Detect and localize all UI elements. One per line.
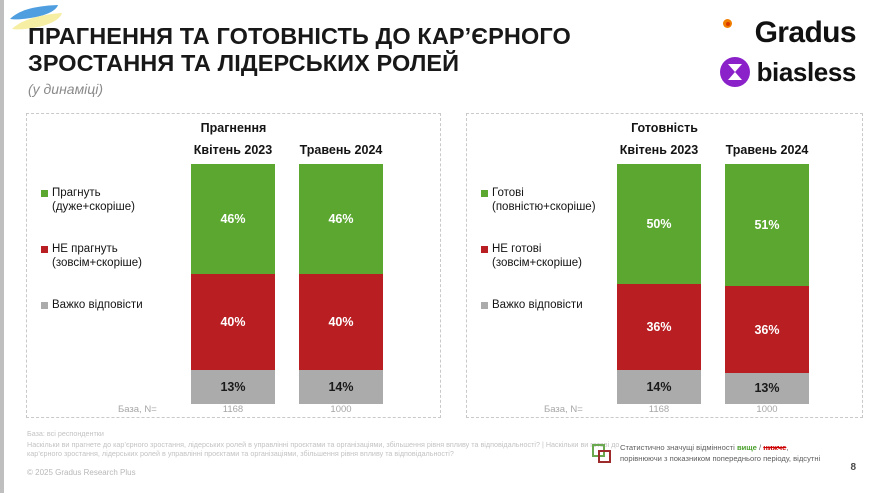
page-number: 8: [850, 462, 856, 473]
bar-segment-label: 36%: [646, 320, 671, 334]
legend-label: Важко відповісти: [52, 298, 143, 312]
bar-segment-green: 51%: [725, 164, 809, 286]
legend-swatch-red-icon: [481, 246, 488, 253]
legend-label: Важко відповісти: [492, 298, 583, 312]
panel-title: Прагнення: [27, 121, 440, 135]
legend-label: НЕ готові (зовсім+скоріше): [492, 242, 582, 270]
footnote: База: всі респондентки Наскільки ви праг…: [27, 429, 627, 459]
footnote-base: База: всі респондентки: [27, 429, 104, 438]
brand-logo: Gradus biasless: [706, 16, 856, 90]
legend-item: Важко відповісти: [41, 298, 191, 312]
base-value: 1000: [299, 404, 383, 415]
legend-label: Прагнуть (дуже+скоріше): [52, 186, 135, 214]
legend-label-sub: (дуже+скоріше): [52, 200, 135, 214]
bar-segment-label: 14%: [646, 380, 671, 394]
bar-column: Квітень 2023 46% 40% 13%: [191, 141, 275, 404]
legend-label-main: Готові: [492, 187, 524, 199]
bar-segment-red: 40%: [191, 274, 275, 370]
bar-segment-label: 13%: [220, 380, 245, 394]
bar-segment-gray: 13%: [191, 370, 275, 404]
legend-label-main: Важко відповісти: [492, 299, 583, 311]
legend-swatch-gray-icon: [481, 302, 488, 309]
legend-label-main: НЕ готові: [492, 243, 541, 255]
stacked-bar: 51% 36% 13%: [725, 164, 809, 404]
bar-segment-label: 40%: [220, 315, 245, 329]
bar-segment-green: 46%: [299, 164, 383, 274]
bar-segment-red: 40%: [299, 274, 383, 370]
bar-column: Травень 2024 51% 36% 13%: [725, 141, 809, 404]
column-header: Травень 2024: [725, 141, 809, 160]
base-row: База, N= 1168 1000: [27, 404, 440, 418]
chart-legend: Прагнуть (дуже+скоріше) НЕ прагнуть (зов…: [41, 186, 191, 312]
logo-gradus-text: Gradus: [755, 16, 856, 50]
significance-up-word: вище: [737, 443, 757, 452]
base-label: База, N=: [118, 404, 157, 415]
column-header: Квітень 2023: [191, 141, 275, 160]
stacked-bar: 46% 40% 14%: [299, 164, 383, 404]
legend-item: НЕ готові (зовсім+скоріше): [481, 242, 631, 270]
bar-segment-gray: 13%: [725, 373, 809, 404]
base-value: 1168: [191, 404, 275, 415]
bar-segment-green: 50%: [617, 164, 701, 284]
logo-biasless-row: biasless: [720, 56, 856, 88]
page-title: ПРАГНЕННЯ ТА ГОТОВНІСТЬ ДО КАР’ЄРНОГО ЗР…: [28, 23, 688, 97]
orange-dot-icon: [723, 19, 732, 28]
bar-segment-label: 46%: [328, 212, 353, 226]
legend-item: Готові (повністю+скоріше): [481, 186, 631, 214]
bar-segment-label: 36%: [754, 323, 779, 337]
bar-segment-label: 13%: [754, 381, 779, 395]
panel-title: Готовність: [467, 121, 862, 135]
bar-segment-label: 46%: [220, 212, 245, 226]
legend-label-sub: (зовсім+скоріше): [492, 256, 582, 270]
significance-down-word: нижче: [763, 443, 786, 452]
legend-label-sub: (повністю+скоріше): [492, 200, 596, 214]
legend-label: Готові (повністю+скоріше): [492, 186, 596, 214]
significance-note-text: Статистично значущі відмінності вище / н…: [620, 443, 822, 464]
legend-swatch-red-icon: [41, 246, 48, 253]
logo-biasless-text: biasless: [757, 57, 856, 88]
legend-label-main: НЕ прагнуть: [52, 243, 118, 255]
chart-legend: Готові (повністю+скоріше) НЕ готові (зов…: [481, 186, 631, 312]
bar-segment-gray: 14%: [617, 370, 701, 404]
page-subtitle: (у динаміці): [28, 81, 688, 97]
bar-column: Травень 2024 46% 40% 14%: [299, 141, 383, 404]
bar-segment-red: 36%: [725, 286, 809, 372]
chart-panel-aspiration: Прагнення Прагнуть (дуже+скоріше) НЕ пра…: [26, 113, 441, 418]
bar-segment-label: 50%: [646, 217, 671, 231]
column-header: Травень 2024: [299, 141, 383, 160]
legend-label-main: Важко відповісти: [52, 299, 143, 311]
legend-label-sub: (зовсім+скоріше): [52, 256, 142, 270]
base-label: База, N=: [544, 404, 583, 415]
base-value: 1000: [725, 404, 809, 415]
stacked-bar: 50% 36% 14%: [617, 164, 701, 404]
title-line-2: ЗРОСТАННЯ ТА ЛІДЕРСЬКИХ РОЛЕЙ: [28, 50, 688, 77]
column-header: Квітень 2023: [617, 141, 701, 160]
legend-swatch-green-icon: [481, 190, 488, 197]
overlapping-squares-icon: [592, 444, 614, 466]
bar-column: Квітень 2023 50% 36% 14%: [617, 141, 701, 404]
legend-item: Прагнуть (дуже+скоріше): [41, 186, 191, 214]
significance-note: Статистично значущі відмінності вище / н…: [592, 443, 822, 466]
hourglass-icon: [720, 57, 750, 87]
title-line-1: ПРАГНЕННЯ ТА ГОТОВНІСТЬ ДО КАР’ЄРНОГО: [28, 23, 688, 50]
bar-segment-label: 40%: [328, 315, 353, 329]
base-row: База, N= 1168 1000: [467, 404, 862, 418]
bar-segment-label: 51%: [754, 218, 779, 232]
bar-segment-gray: 14%: [299, 370, 383, 404]
legend-label: НЕ прагнуть (зовсім+скоріше): [52, 242, 142, 270]
legend-label-main: Прагнуть: [52, 187, 101, 199]
stacked-bar: 46% 40% 13%: [191, 164, 275, 404]
legend-swatch-gray-icon: [41, 302, 48, 309]
page-header: ПРАГНЕННЯ ТА ГОТОВНІСТЬ ДО КАР’ЄРНОГО ЗР…: [0, 0, 878, 104]
copyright-text: © 2025 Gradus Research Plus: [27, 468, 136, 477]
footnote-question: Наскільки ви прагнете до кар’єрного зрос…: [27, 440, 627, 459]
bar-segment-red: 36%: [617, 284, 701, 370]
bar-segment-green: 46%: [191, 164, 275, 274]
legend-item: Важко відповісти: [481, 298, 631, 312]
base-value: 1168: [617, 404, 701, 415]
significance-text-part1: Статистично значущі відмінності: [620, 443, 737, 452]
chart-panel-readiness: Готовність Готові (повністю+скоріше) НЕ …: [466, 113, 863, 418]
bar-segment-label: 14%: [328, 380, 353, 394]
legend-swatch-green-icon: [41, 190, 48, 197]
legend-item: НЕ прагнуть (зовсім+скоріше): [41, 242, 191, 270]
